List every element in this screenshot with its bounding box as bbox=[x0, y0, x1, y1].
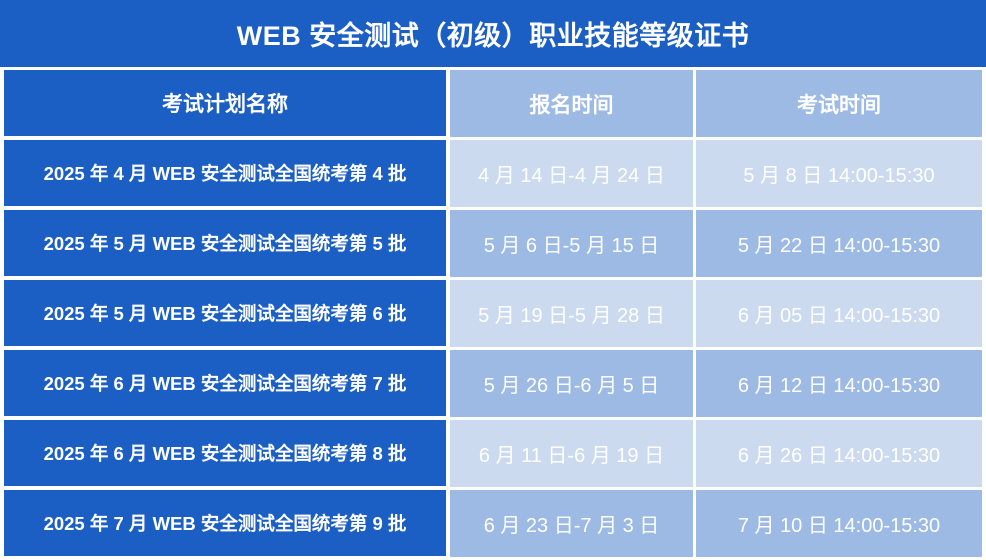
cell-registration-time: 6 月 11 日-6 月 19 日 bbox=[450, 420, 696, 490]
cell-exam-time: 5 月 22 日 14:00-15:30 bbox=[696, 210, 986, 280]
table-row: 2025 年 7 月 WEB 安全测试全国统考第 9 批6 月 23 日-7 月… bbox=[0, 490, 986, 560]
cell-registration-time: 5 月 6 日-5 月 15 日 bbox=[450, 210, 696, 280]
table-header-row: 考试计划名称 报名时间 考试时间 bbox=[0, 70, 986, 140]
table-body: 2025 年 4 月 WEB 安全测试全国统考第 4 批4 月 14 日-4 月… bbox=[0, 140, 986, 560]
column-header-plan: 考试计划名称 bbox=[0, 70, 450, 140]
page-title: WEB 安全测试（初级）职业技能等级证书 bbox=[0, 0, 986, 70]
table-row: 2025 年 5 月 WEB 安全测试全国统考第 6 批5 月 19 日-5 月… bbox=[0, 280, 986, 350]
cell-plan-name: 2025 年 7 月 WEB 安全测试全国统考第 9 批 bbox=[0, 490, 450, 560]
column-header-registration: 报名时间 bbox=[450, 70, 696, 140]
column-header-exam: 考试时间 bbox=[696, 70, 986, 140]
cell-plan-name: 2025 年 5 月 WEB 安全测试全国统考第 6 批 bbox=[0, 280, 450, 350]
cell-plan-name: 2025 年 4 月 WEB 安全测试全国统考第 4 批 bbox=[0, 140, 450, 210]
cell-registration-time: 5 月 26 日-6 月 5 日 bbox=[450, 350, 696, 420]
table-row: 2025 年 6 月 WEB 安全测试全国统考第 7 批5 月 26 日-6 月… bbox=[0, 350, 986, 420]
cell-plan-name: 2025 年 5 月 WEB 安全测试全国统考第 5 批 bbox=[0, 210, 450, 280]
table-row: 2025 年 5 月 WEB 安全测试全国统考第 5 批5 月 6 日-5 月 … bbox=[0, 210, 986, 280]
certificate-exam-schedule-table: WEB 安全测试（初级）职业技能等级证书 考试计划名称 报名时间 考试时间 20… bbox=[0, 0, 986, 560]
table-row: 2025 年 4 月 WEB 安全测试全国统考第 4 批4 月 14 日-4 月… bbox=[0, 140, 986, 210]
cell-exam-time: 6 月 12 日 14:00-15:30 bbox=[696, 350, 986, 420]
cell-plan-name: 2025 年 6 月 WEB 安全测试全国统考第 7 批 bbox=[0, 350, 450, 420]
cell-exam-time: 6 月 05 日 14:00-15:30 bbox=[696, 280, 986, 350]
cell-exam-time: 5 月 8 日 14:00-15:30 bbox=[696, 140, 986, 210]
table-row: 2025 年 6 月 WEB 安全测试全国统考第 8 批6 月 11 日-6 月… bbox=[0, 420, 986, 490]
cell-registration-time: 6 月 23 日-7 月 3 日 bbox=[450, 490, 696, 560]
cell-exam-time: 6 月 26 日 14:00-15:30 bbox=[696, 420, 986, 490]
cell-registration-time: 4 月 14 日-4 月 24 日 bbox=[450, 140, 696, 210]
cell-plan-name: 2025 年 6 月 WEB 安全测试全国统考第 8 批 bbox=[0, 420, 450, 490]
cell-registration-time: 5 月 19 日-5 月 28 日 bbox=[450, 280, 696, 350]
cell-exam-time: 7 月 10 日 14:00-15:30 bbox=[696, 490, 986, 560]
